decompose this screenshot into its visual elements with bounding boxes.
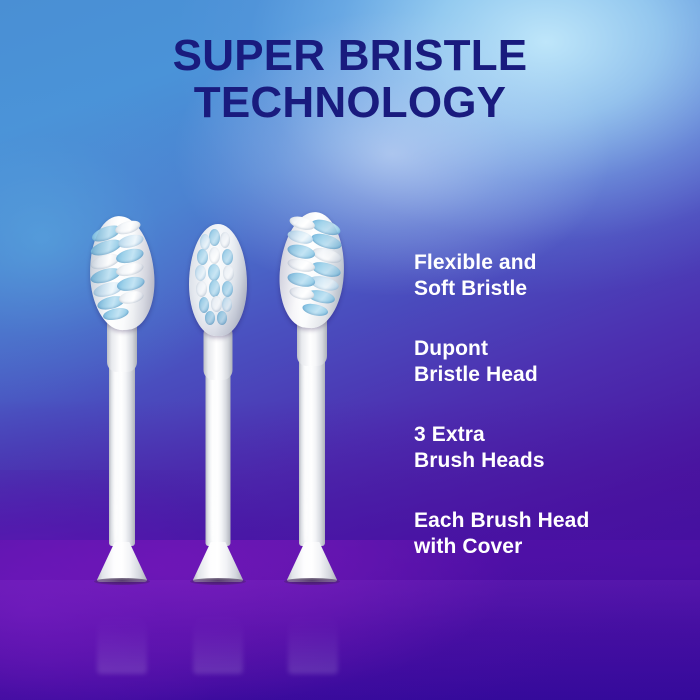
brush-base-shadow-right xyxy=(284,578,340,585)
headline-line-1: SUPER BRISTLE xyxy=(0,34,700,79)
brush-handle-foot-center xyxy=(192,542,244,582)
product-marketing-image: SUPER BRISTLE TECHNOLOGY xyxy=(0,0,700,700)
reflection-left xyxy=(97,612,147,674)
feature-2-line-1: Dupont xyxy=(414,336,684,362)
feature-1-line-1: Flexible and xyxy=(414,250,684,276)
brush-head-center xyxy=(172,224,264,582)
headline: SUPER BRISTLE TECHNOLOGY xyxy=(0,34,700,126)
brush-head-plate-right xyxy=(276,210,348,330)
brush-handle-foot-left xyxy=(96,542,148,582)
bristle-field-right xyxy=(276,210,348,330)
feature-item-3: 3 Extra Brush Heads xyxy=(414,422,684,475)
feature-1-line-2: Soft Bristle xyxy=(414,276,684,302)
brush-head-plate-center xyxy=(189,224,247,336)
bristle-field-center xyxy=(189,224,247,336)
brush-head-left xyxy=(76,216,168,582)
brush-base-shadow-left xyxy=(94,578,150,585)
brush-head-plate-left xyxy=(86,214,158,332)
headline-line-2: TECHNOLOGY xyxy=(0,81,700,126)
reflection-center xyxy=(193,612,243,674)
feature-2-line-2: Bristle Head xyxy=(414,362,684,388)
brush-base-shadow-center xyxy=(190,578,246,585)
reflection-right xyxy=(288,612,338,674)
feature-3-line-1: 3 Extra xyxy=(414,422,684,448)
feature-list: Flexible and Soft Bristle Dupont Bristle… xyxy=(414,250,684,561)
bristle-field-left xyxy=(86,214,158,332)
feature-4-line-1: Each Brush Head xyxy=(414,508,684,534)
brush-handle-foot-right xyxy=(286,542,338,582)
brush-head-right xyxy=(266,212,358,582)
feature-3-line-2: Brush Heads xyxy=(414,448,684,474)
feature-item-1: Flexible and Soft Bristle xyxy=(414,250,684,303)
feature-item-2: Dupont Bristle Head xyxy=(414,336,684,389)
feature-item-4: Each Brush Head with Cover xyxy=(414,508,684,561)
feature-4-line-2: with Cover xyxy=(414,534,684,560)
